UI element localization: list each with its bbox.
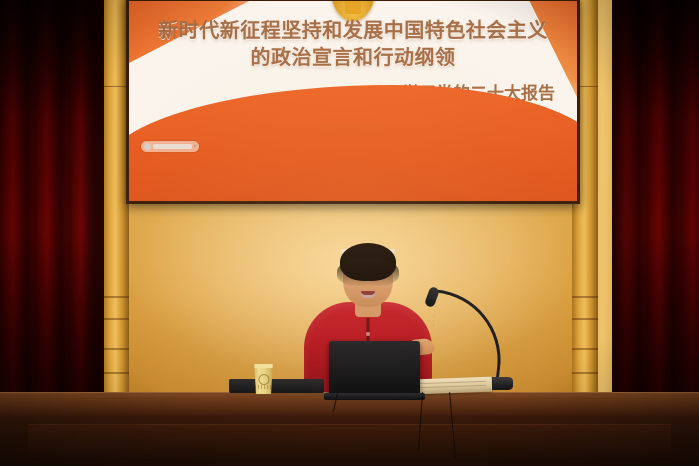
hair <box>340 243 396 281</box>
slide-media-controls[interactable]: › <box>141 141 199 152</box>
presentation-slide: 新时代新征程坚持和发展中国特色社会主义 的政治宣言和行动纲领 ——学习党的二十大… <box>129 1 577 201</box>
projection-screen: 新时代新征程坚持和发展中国特色社会主义 的政治宣言和行动纲领 ——学习党的二十大… <box>126 0 580 204</box>
laptop <box>329 341 420 395</box>
play-button-icon[interactable] <box>144 143 151 150</box>
stage-curtain-right <box>612 0 699 408</box>
mouth <box>361 291 376 298</box>
paper-cup <box>253 364 274 394</box>
chevron-right-icon[interactable]: › <box>194 144 196 150</box>
mousepad <box>229 379 324 393</box>
slide-title-line2: 的政治宣言和行动纲领 <box>139 44 567 71</box>
documents <box>414 377 492 395</box>
desk-front-panel <box>0 416 699 466</box>
slide-title-line1: 新时代新征程坚持和发展中国特色社会主义 <box>139 17 567 44</box>
lecture-photo: 新时代新征程坚持和发展中国特色社会主义 的政治宣言和行动纲领 ——学习党的二十大… <box>0 0 699 466</box>
slide-title: 新时代新征程坚持和发展中国特色社会主义 的政治宣言和行动纲领 <box>129 17 577 71</box>
progress-bar[interactable] <box>153 144 192 149</box>
stage-curtain-left <box>0 0 104 408</box>
